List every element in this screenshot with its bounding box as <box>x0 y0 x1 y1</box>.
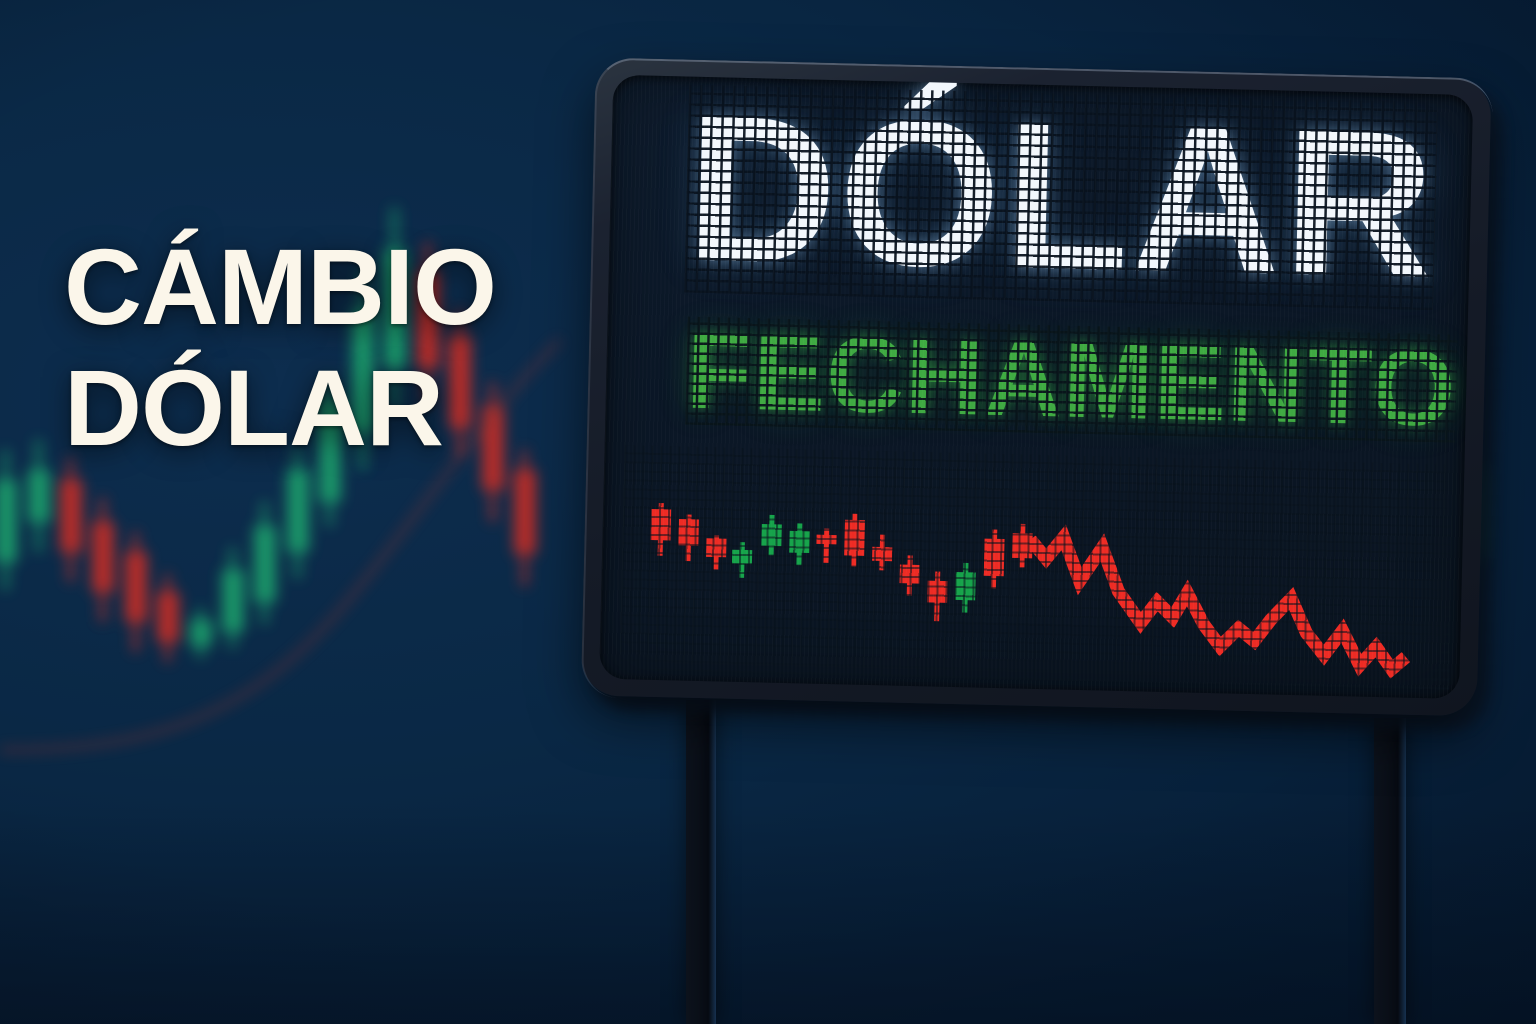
billboard-title-led: DÓLAR <box>684 85 1438 311</box>
billboard-title-text: DÓLAR <box>684 75 1439 322</box>
billboard-subtitle-text: FECHAMENTO <box>685 310 1458 449</box>
candle-body <box>678 519 699 546</box>
billboard-candlestick-chart <box>619 445 1454 689</box>
billboard[interactable]: DÓLAR FECHAMENTO <box>580 57 1503 730</box>
poster-canvas: CÁMBIO DÓLAR DÓLAR FECHAMENTO <box>0 0 1536 1024</box>
headline-line-2: DÓLAR <box>64 357 534 460</box>
candle-body <box>732 550 752 564</box>
candle-body <box>927 581 948 603</box>
candle-body <box>789 531 810 553</box>
headline: CÁMBIO DÓLAR <box>64 236 534 459</box>
candle-body <box>844 520 865 556</box>
candle-body <box>650 509 671 540</box>
candle-body <box>955 572 976 600</box>
candle-body <box>761 524 782 546</box>
headline-line-1: CÁMBIO <box>64 236 534 339</box>
candle-body <box>984 539 1005 577</box>
billboard-chart-svg <box>619 445 1454 689</box>
candle-body <box>900 565 920 584</box>
candles-group <box>649 503 1034 624</box>
candle-body <box>872 547 892 561</box>
candle-body <box>816 535 836 545</box>
trend-line <box>1028 537 1409 670</box>
candle-body <box>706 538 726 557</box>
billboard-post-left <box>686 700 716 1024</box>
billboard-subtitle-led: FECHAMENTO <box>685 317 1457 443</box>
billboard-post-right <box>1374 718 1406 1024</box>
candle-wick <box>823 529 829 563</box>
billboard-screen: DÓLAR FECHAMENTO <box>599 75 1473 699</box>
